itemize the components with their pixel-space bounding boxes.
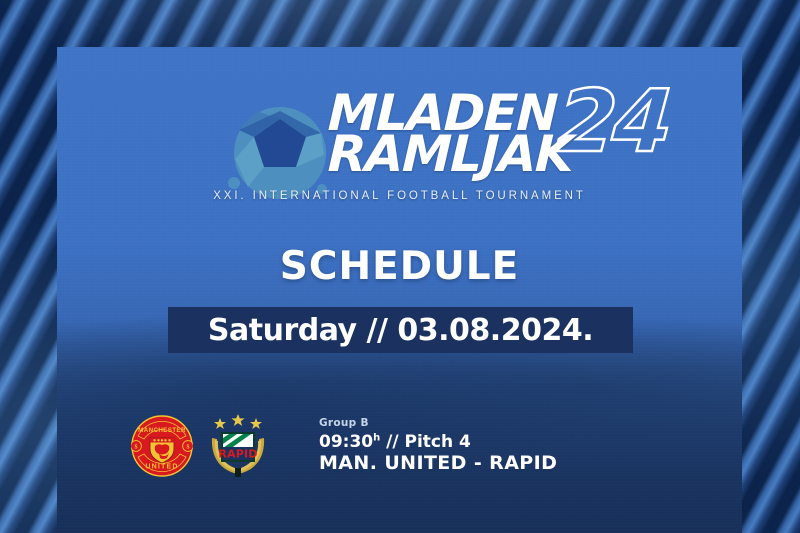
match-crests-partial [131,487,311,517]
match-separator: // [386,432,398,452]
rapid-wien-crest-icon: RAPID [207,412,269,480]
date-banner-label: Saturday // 03.08.2024. [208,313,593,348]
svg-text:MANCHESTER: MANCHESTER [138,427,186,434]
next-away-crest-icon [207,487,269,517]
match-pitch: Pitch 4 [405,432,471,452]
match-time-suffix: h [373,432,380,443]
logo-year: 24 [554,79,672,165]
svg-text:UNITED: UNITED [145,464,178,471]
svg-text:$: $ [187,444,190,451]
page-title: SCHEDULE [57,244,742,289]
match-row-next-partial [57,487,742,517]
logo-name-line2: RAMLJAK [328,134,574,175]
manchester-united-crest-icon: MANCHESTER UNITED [131,412,193,480]
tournament-tagline: XXI. INTERNATIONAL FOOTBALL TOURNAMENT [57,190,742,202]
tournament-logo: MLADEN RAMLJAK 24 [57,91,742,205]
match-details: Group B 09:30h // Pitch 4 MAN. UNITED - … [311,417,557,475]
tournament-schedule-poster: MLADEN RAMLJAK 24 XXI. INTERNATIONAL FOO… [0,0,800,533]
football-ball-icon [226,97,334,205]
match-row: MANCHESTER UNITED [57,405,742,487]
svg-text:RAPID: RAPID [218,448,257,461]
date-banner: Saturday // 03.08.2024. [168,307,633,353]
match-teams: MAN. UNITED - RAPID [319,452,557,475]
match-time: 09:30 [319,432,373,452]
match-time-pitch: 09:30h // Pitch 4 [319,432,557,452]
match-list: MANCHESTER UNITED [57,405,742,517]
svg-text:$: $ [135,444,138,451]
match-crests: MANCHESTER UNITED [131,412,311,480]
poster-card: MLADEN RAMLJAK 24 XXI. INTERNATIONAL FOO… [57,47,742,533]
match-group-label: Group B [319,417,557,429]
tournament-wordmark: MLADEN RAMLJAK 24 [328,93,572,175]
next-home-crest-icon [131,487,193,517]
